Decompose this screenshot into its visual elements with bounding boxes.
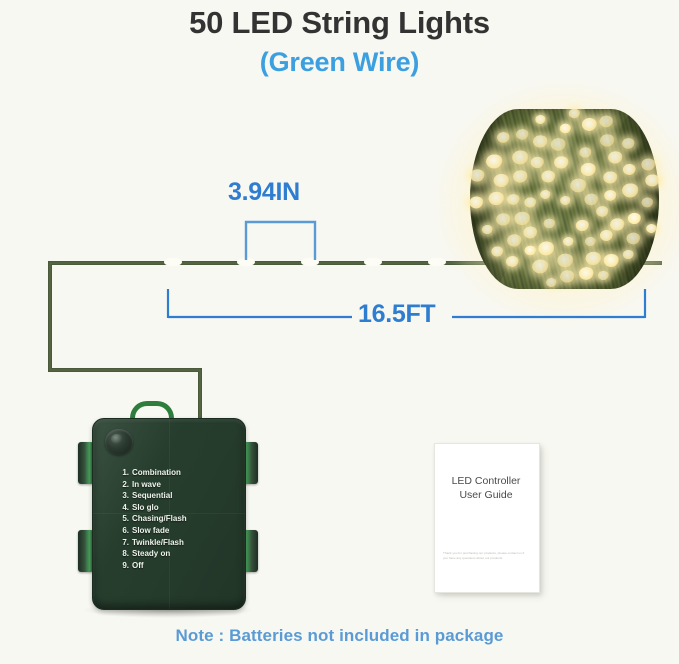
infographic-canvas: 50 LED String Lights (Green Wire) bbox=[0, 0, 679, 664]
coil-led bbox=[538, 241, 555, 255]
guide-fine-print: Thank you for purchasing our products, p… bbox=[443, 551, 529, 560]
coil-led bbox=[514, 211, 530, 225]
coil-led bbox=[540, 190, 551, 199]
length-dimension-label: 16.5FT bbox=[358, 300, 435, 329]
coil-led bbox=[507, 194, 520, 205]
coil-led bbox=[557, 253, 574, 267]
coil-led bbox=[512, 151, 529, 165]
mode-item: 9.Off bbox=[117, 560, 229, 572]
coil-led bbox=[560, 270, 575, 283]
coil-led bbox=[603, 171, 618, 184]
coil-led bbox=[496, 213, 511, 226]
coil-led bbox=[576, 220, 590, 232]
mode-item: 1.Combination bbox=[117, 467, 229, 479]
mode-label: Steady on bbox=[132, 549, 170, 558]
coil-led bbox=[579, 147, 592, 158]
title-block: 50 LED String Lights (Green Wire) bbox=[0, 0, 679, 80]
coil-led bbox=[599, 116, 613, 128]
coil-led bbox=[541, 171, 555, 183]
coil-led bbox=[469, 197, 483, 209]
coil-led bbox=[626, 233, 640, 245]
coil-led bbox=[470, 169, 485, 182]
mode-item: 4.Slo glo bbox=[117, 502, 229, 514]
mode-label: Off bbox=[132, 561, 144, 570]
coil-led bbox=[604, 190, 617, 201]
mode-item: 5.Chasing/Flash bbox=[117, 513, 229, 525]
coil-led bbox=[604, 254, 620, 267]
coil-led bbox=[535, 115, 546, 124]
mode-item: 7.Twinkle/Flash bbox=[117, 537, 229, 549]
coil-led bbox=[586, 251, 602, 265]
coil-led bbox=[581, 163, 597, 176]
mode-number: 5. bbox=[117, 513, 129, 525]
coil-led-dots bbox=[462, 103, 667, 298]
coil-led bbox=[584, 193, 598, 205]
mode-item: 6.Slow fade bbox=[117, 525, 229, 537]
coil-led bbox=[623, 164, 636, 175]
coil-led bbox=[486, 154, 503, 168]
guide-cover bbox=[434, 443, 540, 593]
mode-label: Slo glo bbox=[132, 503, 159, 512]
coil-led bbox=[531, 156, 545, 168]
page-subtitle: (Green Wire) bbox=[0, 44, 679, 80]
coil-led bbox=[493, 174, 509, 188]
coil-led bbox=[597, 206, 610, 217]
page-title: 50 LED String Lights bbox=[0, 3, 679, 43]
coil-led bbox=[578, 267, 593, 280]
mode-label: Combination bbox=[132, 468, 181, 477]
coil-led bbox=[610, 218, 625, 231]
coil-led bbox=[482, 225, 493, 234]
coil-led bbox=[532, 259, 549, 273]
mode-number: 9. bbox=[117, 560, 129, 572]
led-string-light-coil bbox=[462, 103, 667, 298]
mode-label: In wave bbox=[132, 480, 161, 489]
mode-number: 6. bbox=[117, 525, 129, 537]
guide-title: LED Controller User Guide bbox=[434, 474, 538, 502]
coil-led bbox=[569, 109, 581, 119]
coil-led bbox=[507, 235, 522, 248]
coil-led bbox=[523, 227, 537, 239]
coil-led bbox=[491, 247, 503, 258]
guide-title-line2: User Guide bbox=[434, 488, 538, 502]
coil-led bbox=[600, 230, 613, 241]
mode-label: Chasing/Flash bbox=[132, 514, 187, 523]
coil-led bbox=[645, 174, 660, 187]
batteries-note: Note : Batteries not included in package bbox=[0, 626, 679, 646]
coil-led bbox=[560, 124, 572, 134]
coil-led bbox=[598, 271, 609, 281]
coil-led bbox=[600, 134, 615, 147]
guide-title-line1: LED Controller bbox=[434, 474, 538, 488]
mode-item: 8.Steady on bbox=[117, 548, 229, 560]
coil-led bbox=[516, 129, 529, 140]
coil-led bbox=[513, 170, 528, 183]
coil-led bbox=[582, 118, 598, 131]
mode-item: 3.Sequential bbox=[117, 490, 229, 502]
coil-led bbox=[584, 236, 595, 246]
mode-item: 2.In wave bbox=[117, 479, 229, 491]
coil-led bbox=[622, 183, 639, 197]
coil-led bbox=[622, 138, 635, 149]
mode-button[interactable] bbox=[105, 429, 133, 455]
mode-number: 7. bbox=[117, 537, 129, 549]
controller-body: 1.Combination2.In wave3.Sequential4.Slo … bbox=[92, 418, 246, 610]
wire-led-beads bbox=[164, 258, 446, 266]
coil-led bbox=[497, 132, 510, 143]
mode-number: 1. bbox=[117, 467, 129, 479]
mode-number: 4. bbox=[117, 502, 129, 514]
mode-list: 1.Combination2.In wave3.Sequential4.Slo … bbox=[117, 467, 229, 571]
coil-led bbox=[646, 224, 657, 233]
coil-led bbox=[524, 246, 536, 256]
coil-led bbox=[570, 178, 587, 192]
coil-led bbox=[544, 219, 556, 229]
spacing-dimension-label: 3.94IN bbox=[228, 178, 300, 207]
coil-led bbox=[628, 213, 642, 225]
coil-led bbox=[488, 192, 504, 206]
coil-led bbox=[551, 137, 566, 150]
mode-number: 2. bbox=[117, 479, 129, 491]
spacing-dimension-bracket bbox=[246, 222, 315, 260]
coil-led bbox=[608, 151, 623, 164]
mode-number: 3. bbox=[117, 490, 129, 502]
coil-led bbox=[560, 195, 571, 204]
coil-led bbox=[641, 158, 656, 170]
coil-led bbox=[641, 197, 653, 207]
coil-led bbox=[506, 256, 519, 267]
coil-led bbox=[533, 135, 548, 148]
mode-label: Sequential bbox=[132, 491, 172, 500]
coil-led bbox=[546, 278, 557, 287]
mode-label: Twinkle/Flash bbox=[132, 538, 184, 547]
coil-led bbox=[563, 237, 574, 246]
battery-box-controller: 1.Combination2.In wave3.Sequential4.Slo … bbox=[78, 404, 258, 620]
coil-led bbox=[525, 197, 537, 207]
mode-label: Slow fade bbox=[132, 526, 169, 535]
user-guide-booklet: LED Controller User Guide Thank you for … bbox=[434, 443, 538, 591]
coil-led bbox=[623, 250, 634, 260]
mode-number: 8. bbox=[117, 548, 129, 560]
coil-led bbox=[554, 156, 569, 169]
